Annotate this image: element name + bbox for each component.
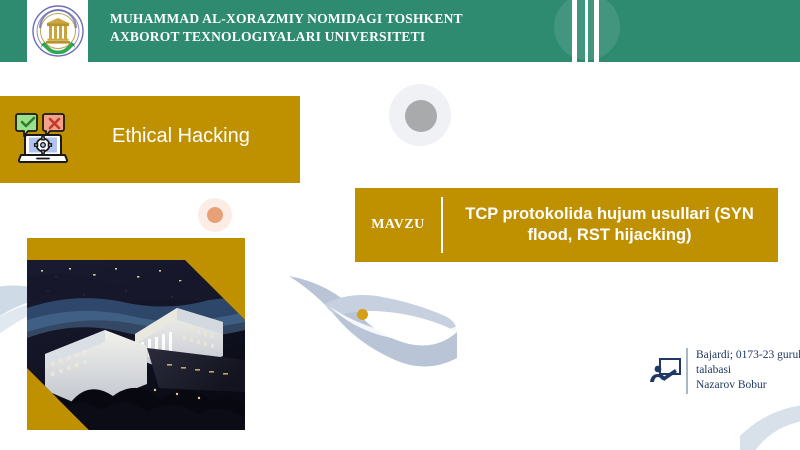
ribbon-accent-dot (357, 309, 368, 320)
course-banner: Ethical Hacking (0, 96, 300, 183)
topic-title: TCP protokolida hujum usullari (SYN floo… (443, 204, 778, 246)
author-text: Bajardi; 0173-23 guruh talabasi Nazarov … (696, 348, 800, 393)
author-line-1: Bajardi; 0173-23 guruh (696, 348, 800, 363)
right-wave-decoration (740, 402, 800, 450)
gray-circle-inner-decoration (405, 100, 437, 132)
course-banner-label: Ethical Hacking (112, 125, 250, 148)
topic-label: MAVZU (355, 217, 441, 233)
header-title-line-1: MUHAMMAD AL-XORAZMIY NOMIDAGI TOSHKENT (110, 10, 540, 28)
university-emblem-icon (31, 4, 85, 58)
header-title-line-2: AXBOROT TEXNOLOGIYALARI UNIVERSITETI (110, 28, 540, 46)
author-block: Bajardi; 0173-23 guruh talabasi Nazarov … (648, 348, 800, 400)
striped-circle-decoration-icon (548, 0, 658, 62)
author-line-2: talabasi (696, 363, 800, 378)
university-campus-aerial-night-photo (27, 238, 245, 430)
presenter-at-board-icon (648, 356, 682, 386)
header-title: MUHAMMAD AL-XORAZMIY NOMIDAGI TOSHKENT A… (110, 10, 540, 46)
author-divider (686, 348, 688, 394)
laptop-gear-check-cross-icon (14, 111, 72, 169)
campus-photo-block (27, 238, 245, 430)
presentation-slide: MUHAMMAD AL-XORAZMIY NOMIDAGI TOSHKENT A… (0, 0, 800, 450)
author-line-3: Nazarov Bobur (696, 378, 800, 393)
peach-circle-inner-decoration (207, 207, 223, 223)
blue-swoosh-ribbon-decoration (285, 258, 485, 378)
topic-box: MAVZU TCP protokolida hujum usullari (SY… (355, 188, 778, 262)
